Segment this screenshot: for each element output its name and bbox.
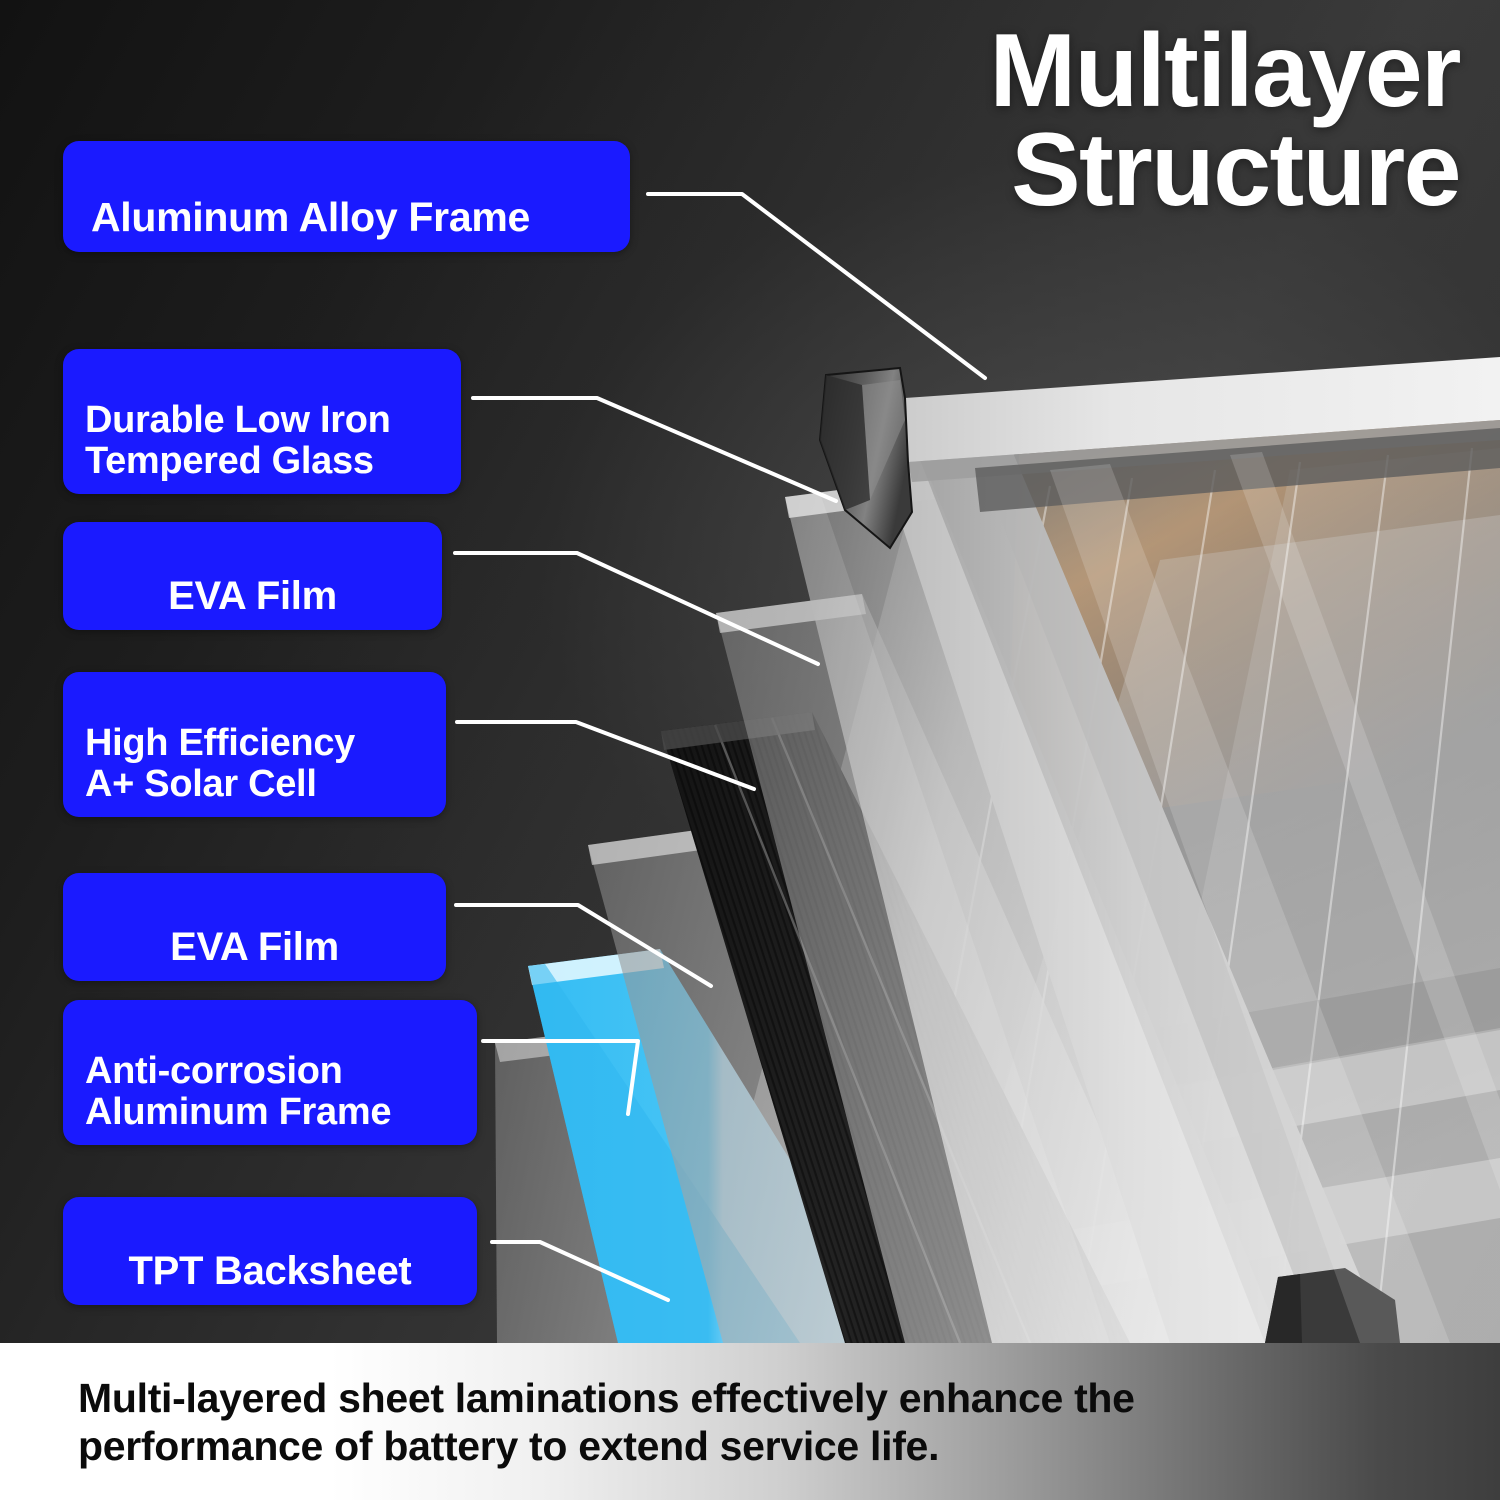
callout-high-efficiency-solar-cell[interactable]: High Efficiency A+ Solar Cell — [63, 672, 446, 817]
caption-text: Multi-layered sheet laminations effectiv… — [78, 1374, 1408, 1471]
infographic-canvas: Multilayer Structure Aluminum Alloy Fram… — [0, 0, 1500, 1500]
callout-label-text: TPT Backsheet — [129, 1249, 412, 1293]
callout-tpt-backsheet[interactable]: TPT Backsheet — [63, 1197, 477, 1305]
callout-label-text: Durable Low Iron Tempered Glass — [85, 399, 391, 482]
callout-label-text: EVA Film — [170, 925, 339, 969]
callout-eva-film-bottom[interactable]: EVA Film — [63, 873, 446, 981]
callout-eva-film-top[interactable]: EVA Film — [63, 522, 442, 630]
callout-label-text: Aluminum Alloy Frame — [91, 194, 530, 240]
callout-label-text: EVA Film — [168, 574, 337, 618]
callout-aluminum-alloy-frame[interactable]: Aluminum Alloy Frame — [63, 141, 630, 252]
callout-anti-corrosion-aluminum-frame[interactable]: Anti-corrosion Aluminum Frame — [63, 1000, 477, 1145]
caption-line-1: Multi-layered sheet laminations effectiv… — [78, 1374, 1408, 1422]
callout-label-text: High Efficiency A+ Solar Cell — [85, 722, 355, 805]
hero-dark-panel: Multilayer Structure Aluminum Alloy Fram… — [0, 0, 1500, 1343]
callout-label-text: Anti-corrosion Aluminum Frame — [85, 1050, 391, 1133]
callout-durable-low-iron-tempered-glass[interactable]: Durable Low Iron Tempered Glass — [63, 349, 461, 494]
caption-line-2: performance of battery to extend service… — [78, 1422, 1408, 1470]
